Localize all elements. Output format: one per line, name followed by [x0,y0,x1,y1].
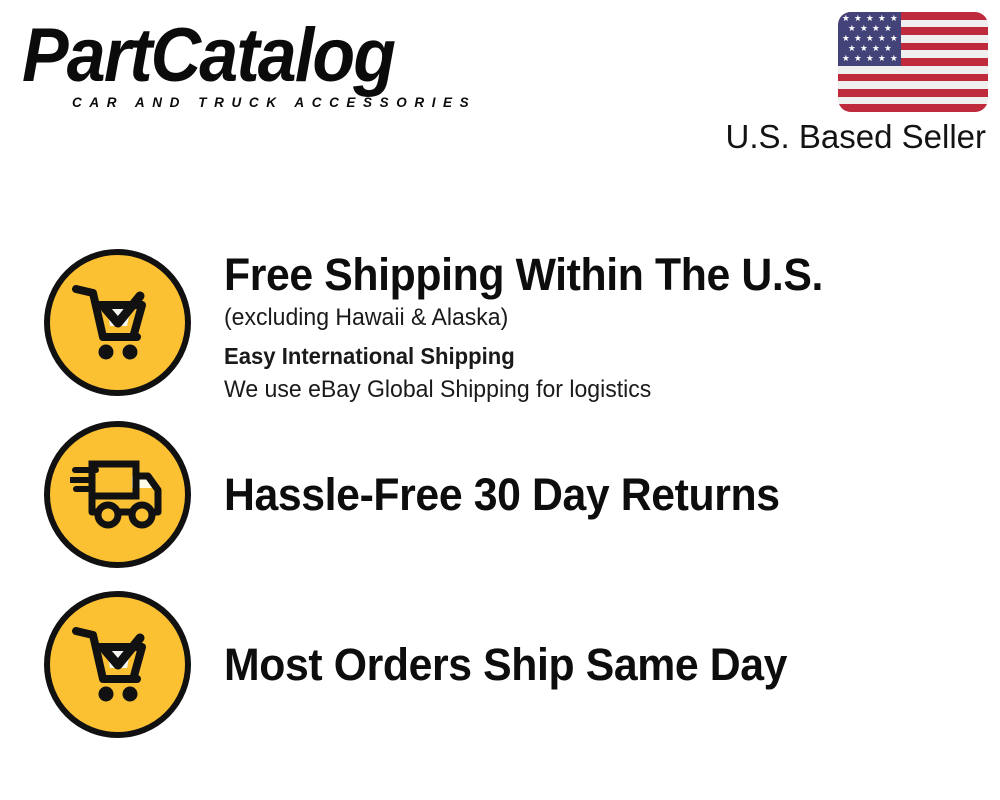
flag-star: ★ [854,15,862,24]
us-based-seller-label: U.S. Based Seller [726,119,986,155]
flag-star: ★ [866,15,874,24]
flag-star: ★ [872,25,880,34]
flag-stripe [838,104,988,112]
flag-star: ★ [866,35,874,44]
flag-star: ★ [890,55,898,64]
flag-star: ★ [890,15,898,24]
shopping-cart-check-icon [44,591,191,738]
feature-text-block: Free Shipping Within The U.S. (excluding… [224,249,984,406]
flag-star: ★ [860,45,868,54]
us-flag-icon: ★ ★ ★ ★ ★ ★ ★ ★ ★ ★ ★ ★ ★ ★ ★ ★ ★ ★ ★ ★ … [838,12,988,112]
flag-star: ★ [842,55,850,64]
flag-star: ★ [878,35,886,44]
flag-stripe [838,89,988,97]
flag-star: ★ [848,45,856,54]
feature-row: Most Orders Ship Same Day [0,591,1000,761]
feature-subline: We use eBay Global Shipping for logistic… [224,373,954,406]
feature-text-block: Hassle-Free 30 Day Returns [224,421,984,521]
delivery-truck-icon [44,421,191,568]
feature-row: Free Shipping Within The U.S. (excluding… [0,249,1000,421]
feature-subline-bold: Easy International Shipping [224,340,954,373]
feature-row: Hassle-Free 30 Day Returns [0,421,1000,591]
feature-subline: (excluding Hawaii & Alaska) [224,301,954,334]
flag-star: ★ [842,15,850,24]
flag-star: ★ [860,25,868,34]
logo-wordmark: PartCatalog [22,18,454,94]
flag-stripe [838,97,988,105]
flag-star: ★ [890,35,898,44]
flag-star: ★ [866,55,874,64]
feature-text-block: Most Orders Ship Same Day [224,591,984,691]
feature-headline: Most Orders Ship Same Day [224,639,946,691]
flag-star: ★ [854,35,862,44]
flag-star: ★ [848,25,856,34]
flag-canton: ★ ★ ★ ★ ★ ★ ★ ★ ★ ★ ★ ★ ★ ★ ★ ★ ★ ★ ★ ★ … [838,12,901,66]
flag-star: ★ [854,55,862,64]
flag-star: ★ [878,15,886,24]
shopping-cart-check-icon [44,249,191,396]
flag-star: ★ [884,25,892,34]
brand-logo: PartCatalog CAR AND TRUCK ACCESSORIES [22,18,492,110]
flag-stripe [838,81,988,89]
flag-stripe [838,74,988,82]
flag-stripe [838,66,988,74]
feature-headline: Free Shipping Within The U.S. [224,249,946,301]
flag-star: ★ [842,35,850,44]
flag-star: ★ [878,55,886,64]
flag-star: ★ [872,45,880,54]
banner-header: PartCatalog CAR AND TRUCK ACCESSORIES ★ … [0,0,1000,175]
feature-headline: Hassle-Free 30 Day Returns [224,469,946,521]
flag-star: ★ [884,45,892,54]
